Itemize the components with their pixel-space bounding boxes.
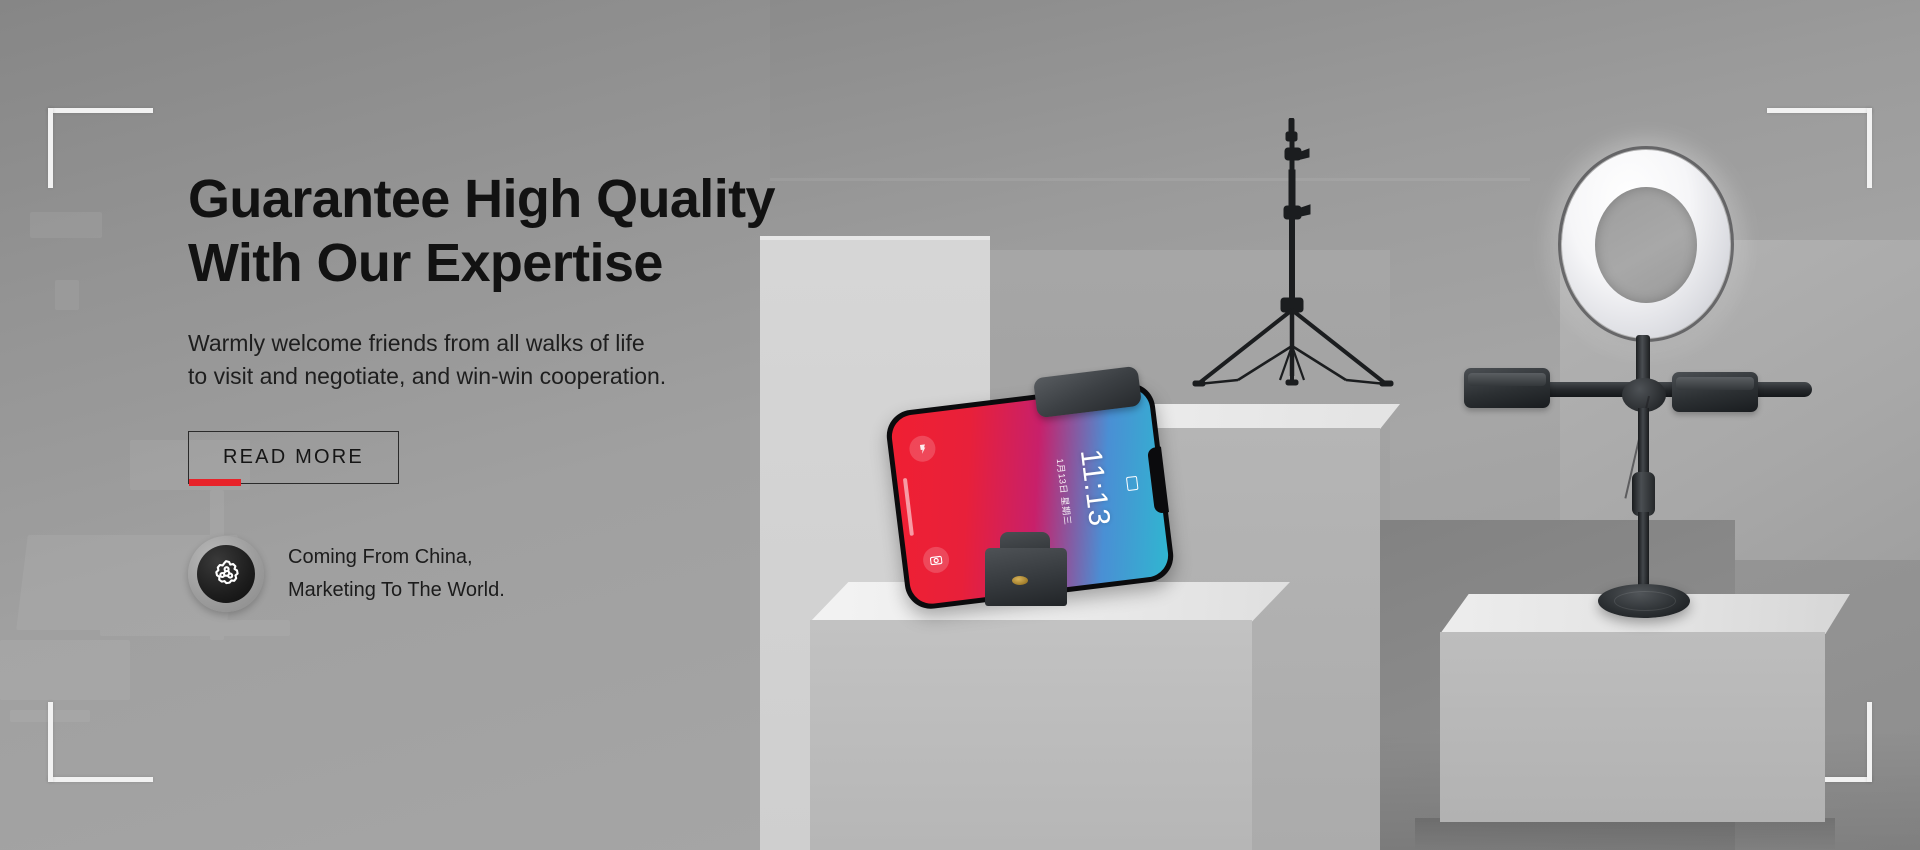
company-tagline: Coming From China, Marketing To The Worl… [188, 536, 888, 612]
tagline-badge-inner [197, 545, 255, 603]
phone-side-indicator [903, 478, 914, 536]
read-more-label: READ MORE [223, 446, 364, 468]
ring-light-center-hole [1595, 187, 1697, 303]
hero-banner: 1月13日 星期三 11:13 Guarante [0, 0, 1920, 850]
hero-content: Guarantee High Quality With Our Expertis… [188, 168, 888, 612]
tagline-text: Coming From China, Marketing To The Worl… [288, 541, 505, 606]
pedestal-phone-face [810, 620, 1252, 850]
read-more-button[interactable]: READ MORE [188, 431, 399, 484]
ring-light-weighted-base [1598, 584, 1690, 618]
phone-holder-right [1672, 372, 1758, 412]
camera-icon [922, 545, 951, 574]
ring-light-ball-joint [1622, 378, 1666, 412]
ring-light-lamp [1562, 150, 1730, 338]
hero-subtitle: Warmly welcome friends from all walks of… [188, 327, 888, 392]
phone-clamp-screw [1012, 576, 1028, 585]
page-title: Guarantee High Quality With Our Expertis… [188, 168, 888, 295]
ring-light-lower-stem [1638, 512, 1649, 594]
pedestal-ringlight-shadow [1415, 818, 1835, 850]
ring-light-mid-stem [1638, 408, 1649, 478]
phone-lockscreen-date: 1月13日 星期三 [1054, 458, 1075, 526]
tripod-svg [1180, 118, 1410, 428]
phone-lockscreen-time: 11:13 [1073, 447, 1116, 528]
tagline-badge [188, 536, 264, 612]
flashlight-icon [908, 434, 937, 463]
ring-light-height-knob [1632, 472, 1655, 516]
gear-icon [210, 558, 242, 590]
pedestal-ringlight-face [1440, 632, 1825, 822]
lock-icon [1126, 476, 1139, 491]
led-ring-light [1562, 150, 1862, 620]
read-more-accent-bar [189, 479, 241, 486]
tripod-light-stand [1180, 118, 1410, 428]
phone-holder-left [1464, 368, 1550, 408]
